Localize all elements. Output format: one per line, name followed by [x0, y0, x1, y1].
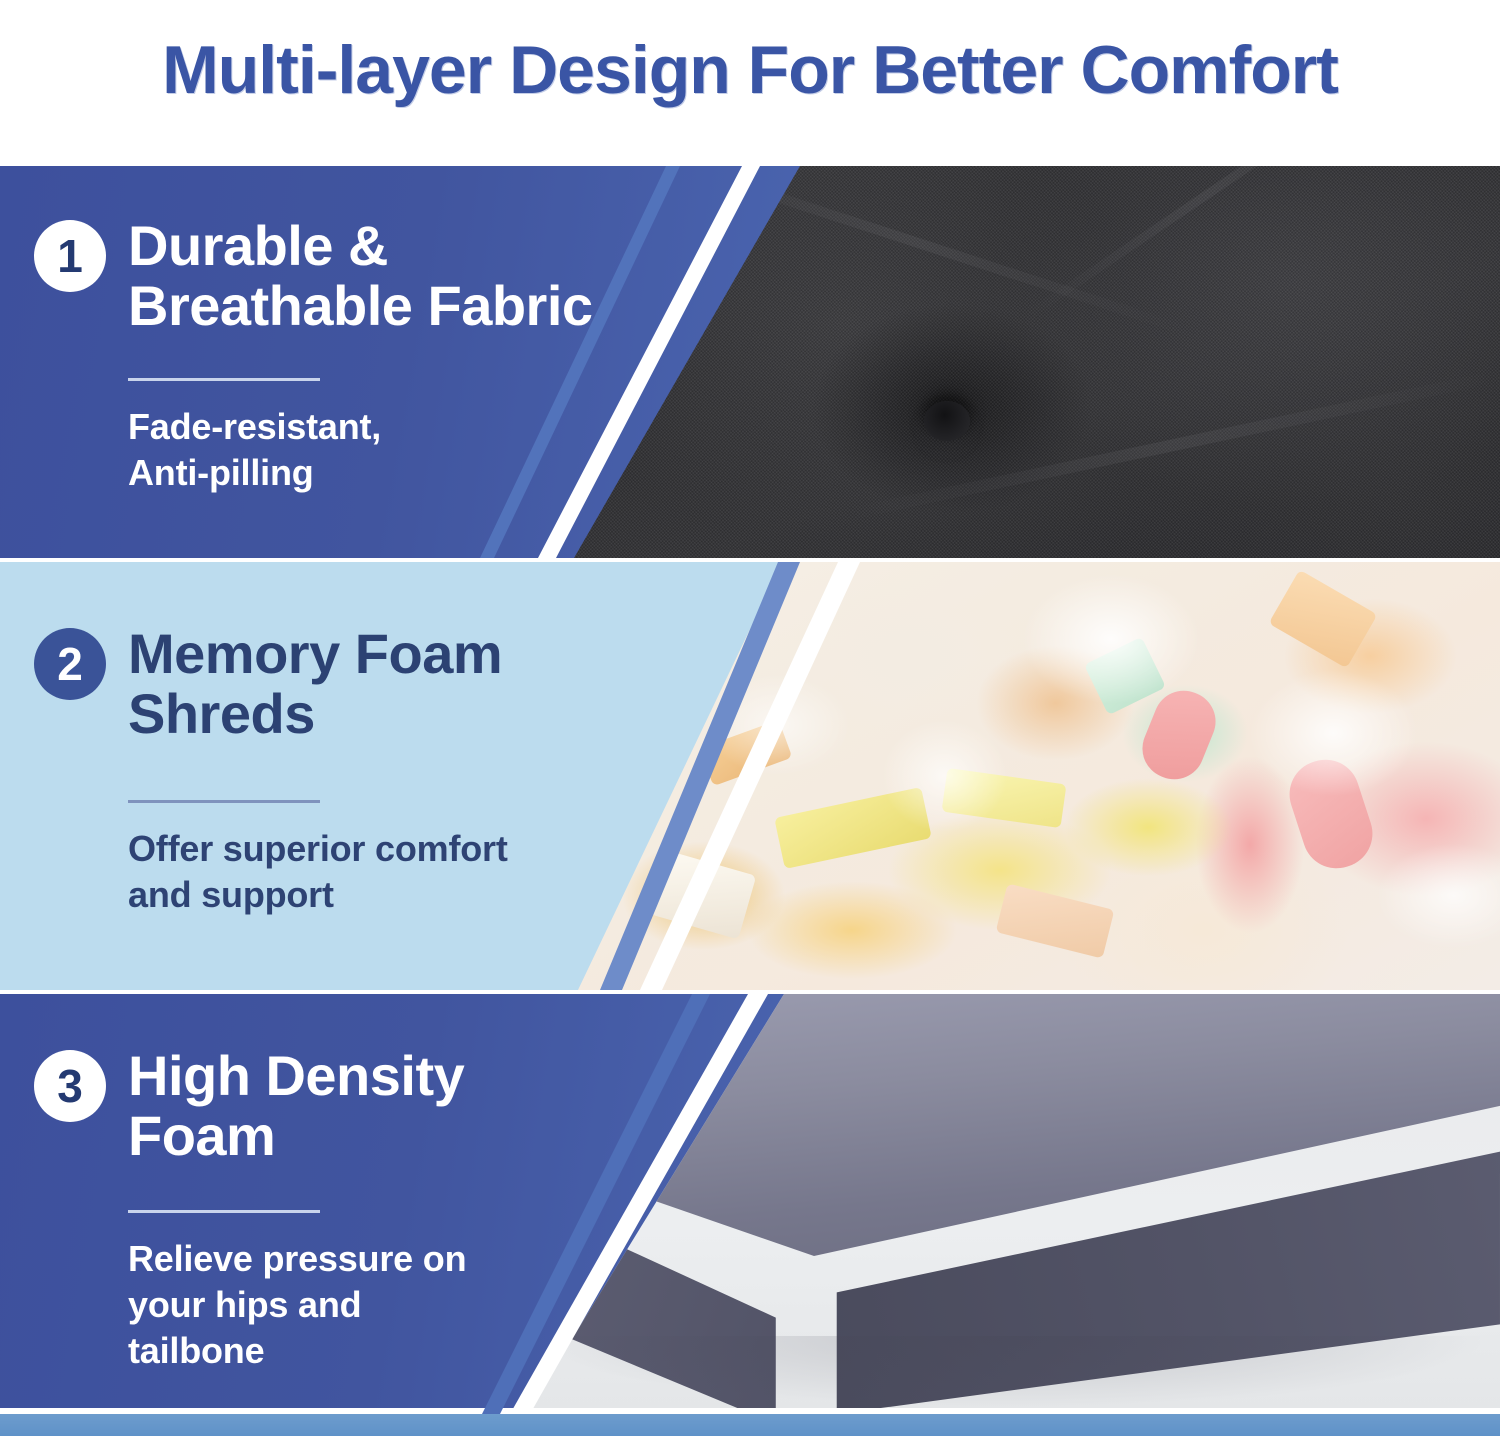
step-number-badge-3: 3: [34, 1050, 106, 1122]
panel-2-heading: Memory Foam Shreds: [128, 624, 502, 745]
panel-2-subtitle-line-2: and support: [128, 872, 508, 918]
panel-1-subtitle-line-2: Anti-pilling: [128, 450, 381, 496]
feature-panel-3: 3 High Density Foam Relieve pressure on …: [0, 994, 1500, 1414]
panel-1-content: 1 Durable & Breathable Fabric Fade-resis…: [0, 166, 760, 558]
panel-1-subtitle-line-1: Fade-resistant,: [128, 404, 381, 450]
page-title-bar: Multi-layer Design For Better Comfort: [0, 0, 1500, 140]
page-title: Multi-layer Design For Better Comfort: [162, 31, 1338, 109]
panel-3-divider-rule: [128, 1210, 320, 1213]
panel-3-heading: High Density Foam: [128, 1046, 464, 1167]
panel-2-content: 2 Memory Foam Shreds Offer superior comf…: [0, 562, 760, 990]
panel-2-heading-line-1: Memory Foam: [128, 624, 502, 684]
panel-1-heading-line-1: Durable &: [128, 216, 593, 276]
panel-2-heading-line-2: Shreds: [128, 684, 502, 744]
fabric-button-dimple: [924, 401, 970, 441]
step-number-badge-1: 1: [34, 220, 106, 292]
bottom-blue-strip: [0, 1414, 1500, 1436]
panel-2-divider-rule: [128, 800, 320, 803]
feature-panel-2: 2 Memory Foam Shreds Offer superior comf…: [0, 562, 1500, 990]
panel-3-heading-line-1: High Density: [128, 1046, 464, 1106]
panel-3-content: 3 High Density Foam Relieve pressure on …: [0, 994, 760, 1414]
panel-3-heading-row: 3 High Density Foam: [34, 1046, 464, 1167]
panel-1-heading: Durable & Breathable Fabric: [128, 216, 593, 337]
panel-3-subtitle: Relieve pressure on your hips and tailbo…: [128, 1236, 466, 1374]
panel-1-subtitle: Fade-resistant, Anti-pilling: [128, 404, 381, 496]
panel-2-subtitle: Offer superior comfort and support: [128, 826, 508, 918]
panel-1-heading-line-2: Breathable Fabric: [128, 276, 593, 336]
panel-3-subtitle-line-2: your hips and: [128, 1282, 466, 1328]
panel-1-divider-rule: [128, 378, 320, 381]
panel-3-subtitle-line-3: tailbone: [128, 1328, 466, 1374]
panel-3-heading-line-2: Foam: [128, 1106, 464, 1166]
step-number-badge-2: 2: [34, 628, 106, 700]
panel-1-heading-row: 1 Durable & Breathable Fabric: [34, 216, 593, 337]
panel-2-heading-row: 2 Memory Foam Shreds: [34, 624, 502, 745]
panel-2-subtitle-line-1: Offer superior comfort: [128, 826, 508, 872]
panel-3-subtitle-line-1: Relieve pressure on: [128, 1236, 466, 1282]
feature-panel-1: 1 Durable & Breathable Fabric Fade-resis…: [0, 166, 1500, 558]
